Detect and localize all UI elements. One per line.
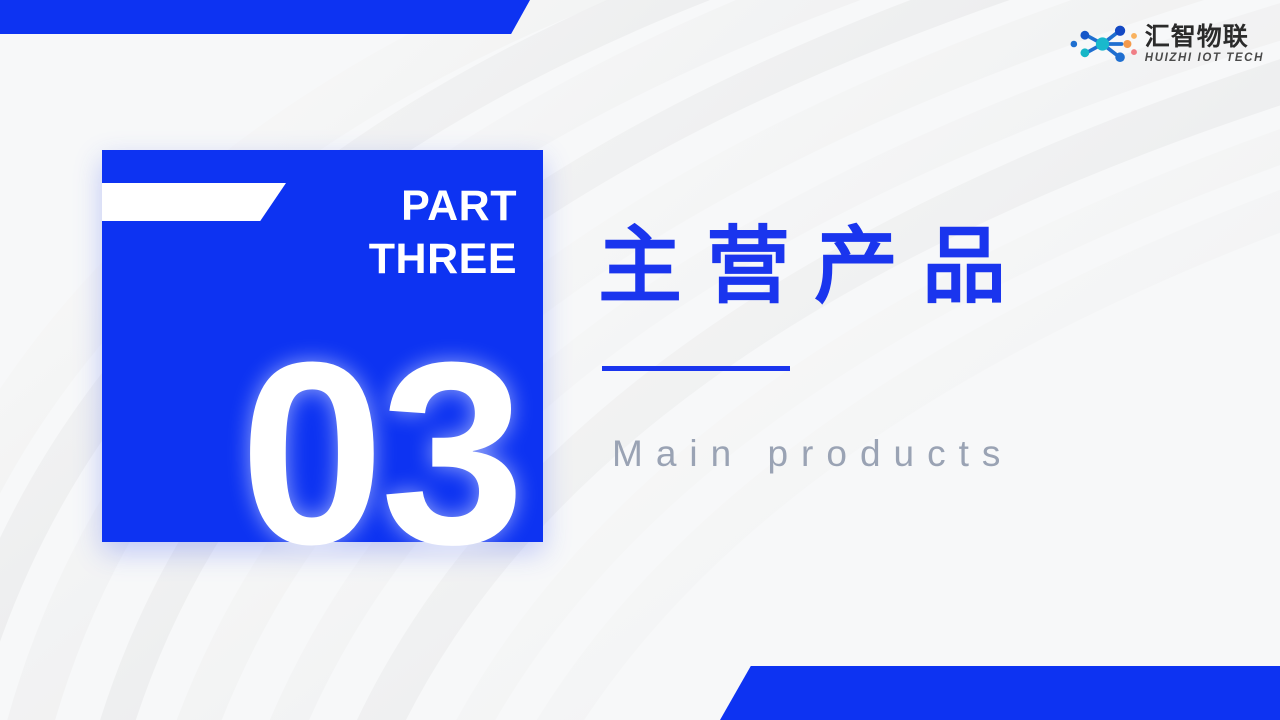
logo-text: 汇智物联 HUIZHI IOT TECH — [1145, 24, 1264, 65]
part-label-line2: THREE — [257, 233, 517, 286]
page-title-cn: 主营产品 — [598, 212, 1030, 320]
molecule-network-icon — [1064, 22, 1138, 66]
logo-name-cn: 汇智物联 — [1145, 24, 1264, 49]
slide-canvas: PART THREE 03 主营产品 Main products — [0, 0, 1280, 720]
bottom-accent-bar — [720, 666, 1280, 720]
company-logo: 汇智物联 HUIZHI IOT TECH — [1064, 22, 1264, 66]
title-underline — [602, 366, 790, 371]
page-subtitle-en: Main products — [612, 430, 1013, 478]
section-card: PART THREE 03 — [102, 150, 543, 542]
section-number: 03 — [240, 324, 521, 584]
logo-name-en: HUIZHI IOT TECH — [1145, 53, 1264, 65]
part-label-line1: PART — [257, 180, 517, 233]
top-accent-bar — [0, 0, 530, 34]
part-label: PART THREE — [257, 180, 517, 286]
